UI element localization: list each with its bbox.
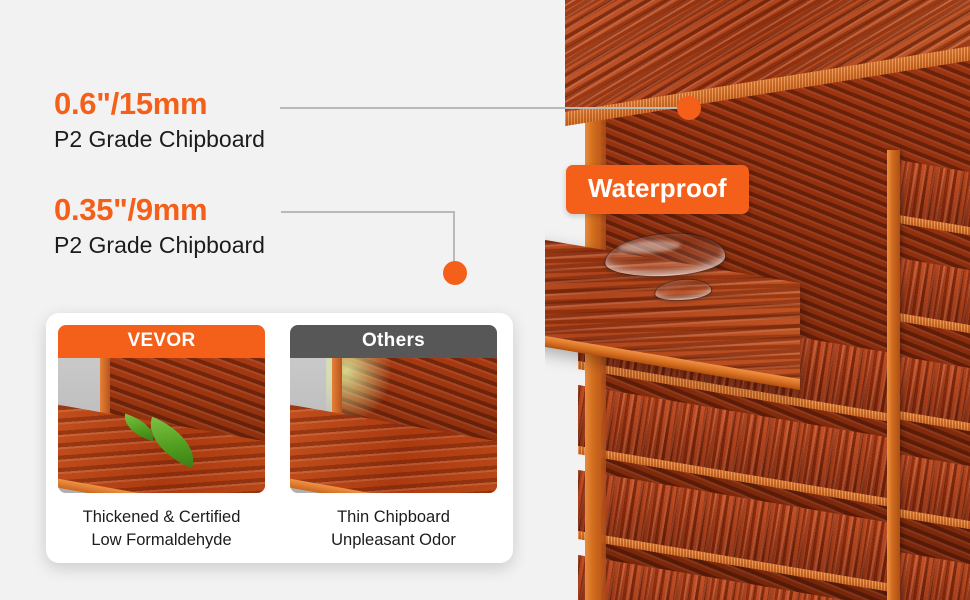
caption-line: Thickened & Certified	[58, 506, 265, 528]
callout-value: 0.6"/15mm	[54, 88, 265, 119]
caption-line: Low Formaldehyde	[58, 529, 265, 551]
product-image	[545, 0, 970, 600]
comparison-card: VEVOR Thickened & Certified Low Formalde…	[46, 313, 513, 563]
comparison-header-vevor: VEVOR	[58, 325, 265, 358]
callout-description: P2 Grade Chipboard	[54, 127, 265, 152]
shelf-board	[898, 258, 970, 333]
vertical-divider	[887, 150, 900, 600]
comparison-caption-vevor: Thickened & Certified Low Formaldehyde	[58, 506, 265, 551]
leader-line-segment	[280, 107, 680, 109]
callout-thickness-bottom: 0.35"/9mm P2 Grade Chipboard	[54, 194, 265, 258]
caption-line: Thin Chipboard	[290, 506, 497, 528]
shelf-board	[898, 160, 970, 235]
leader-line-segment	[281, 211, 455, 213]
infographic-stage: 0.6"/15mm P2 Grade Chipboard 0.35"/9mm P…	[0, 0, 970, 600]
callout-thickness-top: 0.6"/15mm P2 Grade Chipboard	[54, 88, 265, 152]
comparison-caption-others: Thin Chipboard Unpleasant Odor	[290, 506, 497, 551]
shelf-board	[898, 454, 970, 529]
comparison-column-others: Others Thin Chipboard Unpleasant Odor	[290, 325, 497, 551]
leader-endpoint-dot	[443, 261, 467, 285]
callout-value: 0.35"/9mm	[54, 194, 265, 225]
comparison-column-vevor: VEVOR Thickened & Certified Low Formalde…	[58, 325, 265, 551]
leader-endpoint-dot	[677, 96, 701, 120]
callout-description: P2 Grade Chipboard	[54, 233, 265, 258]
comparison-photo-others	[290, 358, 497, 494]
comparison-columns: VEVOR Thickened & Certified Low Formalde…	[58, 325, 501, 551]
waterproof-badge: Waterproof	[566, 165, 749, 214]
comparison-header-others: Others	[290, 325, 497, 358]
comparison-photo-vevor	[58, 358, 265, 494]
caption-line: Unpleasant Odor	[290, 529, 497, 551]
shelf-board	[898, 356, 970, 431]
